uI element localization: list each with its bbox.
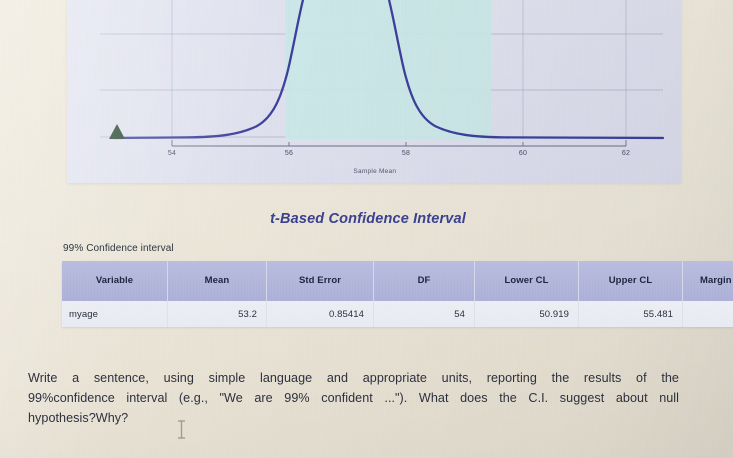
x-tick-label-58: 58 (402, 150, 410, 157)
column-header-variable: Variable (62, 261, 168, 301)
cell-df: 54 (374, 301, 475, 327)
report-title: t-Based Confidence Interval (0, 211, 733, 227)
triangle-marker (109, 124, 125, 139)
x-tick-label-62: 62 (622, 150, 630, 157)
cell-std-error: 0.85414 (267, 301, 374, 327)
x-tick-label-56: 56 (285, 150, 293, 157)
x-tick-label-54: 54 (168, 150, 176, 157)
column-header-mean: Mean (168, 261, 267, 301)
x-axis-title: Sample Mean (353, 168, 396, 175)
confidence-interval-table: Variable Mean Std Error DF Lower CL Uppe… (62, 261, 733, 327)
cell-lower-cl: 50.919 (475, 301, 579, 327)
question-text: Write a sentence, using simple language … (28, 368, 679, 428)
question-line-2: 99%confidence interval (e.g., "We are 99… (28, 388, 679, 408)
x-axis-line (172, 140, 626, 146)
cell-margin-of-error: 2.2806 (683, 301, 733, 327)
question-line-3: hypothesis?Why? (28, 408, 679, 428)
distribution-plot-svg (67, 0, 681, 183)
column-header-std-error: Std Error (267, 261, 374, 301)
column-header-df: DF (374, 261, 475, 301)
x-tick-label-60: 60 (519, 150, 527, 157)
column-header-upper-cl: Upper CL (579, 261, 683, 301)
scanned-page: 54 56 58 60 62 Sample Mean t-Based Confi… (0, 0, 733, 458)
cell-variable: myage (62, 301, 168, 327)
cell-upper-cl: 55.481 (579, 301, 683, 327)
cell-mean: 53.2 (168, 301, 267, 327)
confidence-interval-label: 99% Confidence interval (63, 243, 174, 254)
column-header-lower-cl: Lower CL (475, 261, 579, 301)
table-row: myage 53.2 0.85414 54 50.919 55.481 2.28… (62, 301, 733, 327)
sampling-distribution-chart: 54 56 58 60 62 Sample Mean (67, 0, 681, 183)
column-header-margin-of-error: Margin of Error (683, 261, 733, 301)
question-line-1: Write a sentence, using simple language … (28, 368, 679, 388)
confidence-region-shading (285, 0, 491, 139)
table-header-row: Variable Mean Std Error DF Lower CL Uppe… (62, 261, 733, 301)
